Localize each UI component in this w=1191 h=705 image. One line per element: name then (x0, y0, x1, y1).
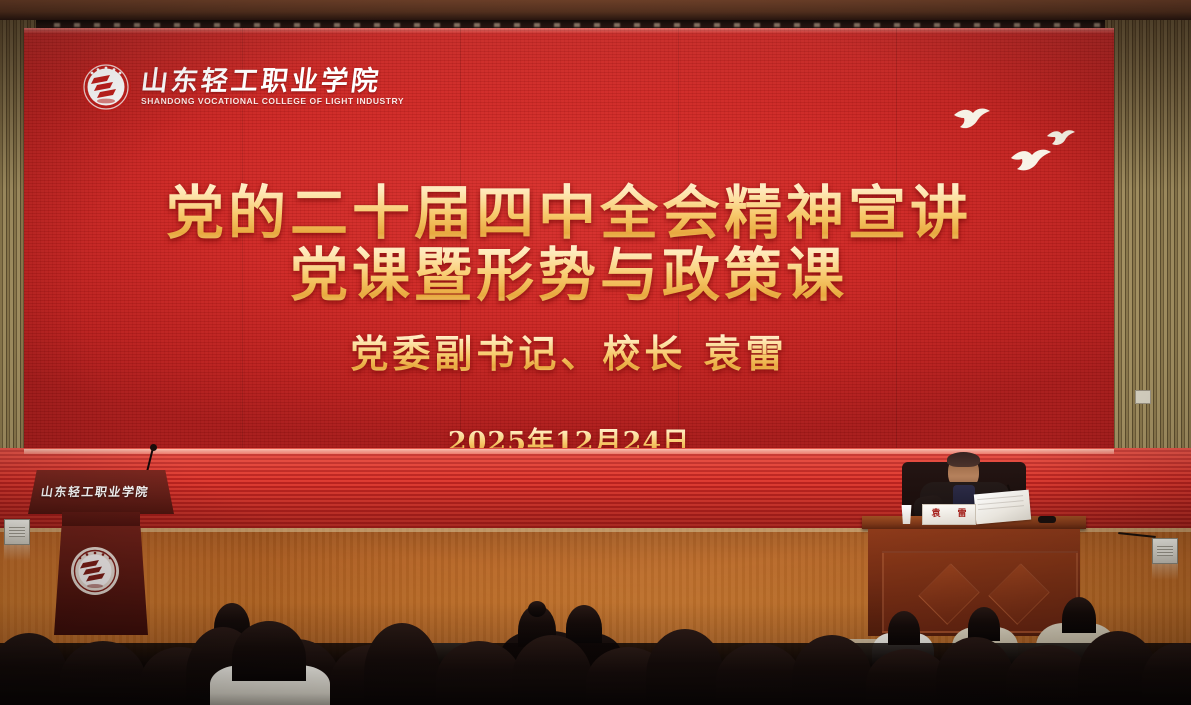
school-name-cn: 山东轻工职业学院 (139, 68, 406, 96)
podium-microphone-icon (150, 444, 157, 451)
subtitle-speaker: 党委副书记、校长 袁雷 (24, 323, 1114, 378)
audience-head (566, 605, 602, 643)
school-emblem-icon (80, 61, 132, 113)
speech-documents (974, 490, 1031, 525)
podium-label: 山东轻工职业学院 (21, 483, 169, 500)
title-line-2: 党课暨形势与政策课 (24, 228, 1114, 312)
led-backdrop-screen: 山东轻工职业学院 SHANDONG VOCATIONAL COLLEGE OF … (24, 28, 1114, 448)
school-name-en: SHANDONG VOCATIONAL COLLEGE OF LIGHT IND… (141, 97, 404, 106)
desk-microphone-icon (1038, 516, 1056, 523)
audience-hair-bun (528, 601, 546, 617)
right-wall-outlet (1135, 390, 1151, 404)
name-card-char-2: 雷 (957, 510, 966, 519)
audience-head (968, 607, 1000, 641)
audience-head (646, 629, 724, 705)
podium-neck (62, 512, 140, 528)
audience-head (1062, 597, 1096, 633)
school-name-block: 山东轻工职业学院 SHANDONG VOCATIONAL COLLEGE OF … (141, 68, 404, 106)
auditorium-scene: 山东轻工职业学院 SHANDONG VOCATIONAL COLLEGE OF … (0, 0, 1191, 705)
audience-head (888, 611, 920, 645)
name-card-char-1: 袁 (931, 510, 940, 519)
audience-head (364, 623, 440, 705)
ceiling-light-strip (40, 23, 1160, 27)
event-date: 2025年12月24日 (24, 420, 1114, 448)
speaker-hair (947, 452, 980, 467)
audience-head (232, 621, 306, 681)
dove-icon (952, 106, 992, 132)
school-logo-lockup: 山东轻工职业学院 SHANDONG VOCATIONAL COLLEGE OF … (80, 61, 404, 113)
dove-icon (1046, 128, 1076, 148)
speaker-name-card: 袁 雷 (922, 504, 976, 525)
audience-area (0, 556, 1191, 705)
